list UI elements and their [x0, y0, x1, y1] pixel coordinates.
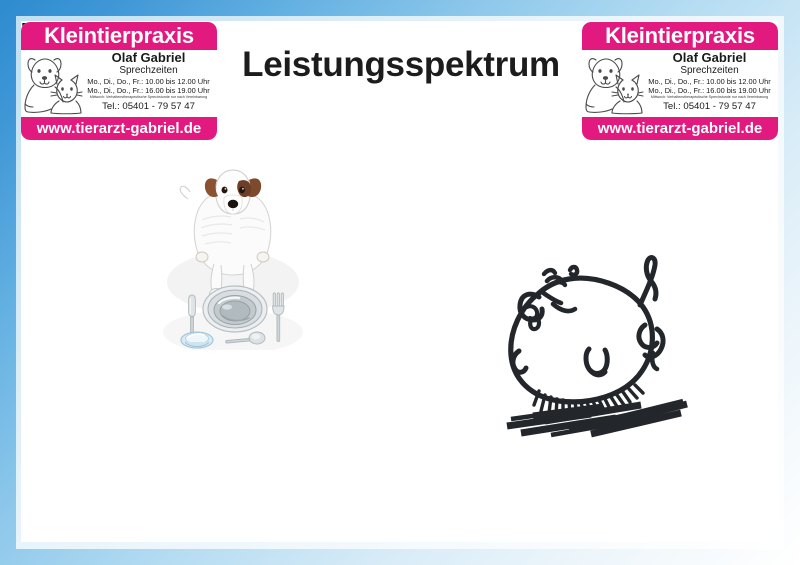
logo-body: Olaf Gabriel Sprechzeiten Mo., Di., Do.,… [21, 50, 217, 117]
dog-and-cat-icon [21, 50, 83, 114]
page-title: Leistungsspektrum [226, 45, 576, 85]
practice-logo-right[interactable]: Kleintierpraxis [582, 22, 778, 140]
practice-logo-left[interactable]: Kleintierpraxis [21, 22, 217, 140]
phone-number: Tel.: 05401 - 79 57 47 [83, 101, 214, 113]
website-link[interactable]: www.tierarzt-gabriel.de [21, 117, 217, 140]
logo-banner-title: Kleintierpraxis [21, 22, 217, 50]
hours-note: Mittwoch: Verhaltenstherapeutische Sprec… [644, 95, 775, 100]
jack-russell-terrier-photo [161, 164, 306, 350]
vet-name: Olaf Gabriel [83, 51, 214, 65]
hours-line-1: Mo., Di., Do., Fr.: 10.00 bis 12.00 Uhr [644, 77, 775, 86]
overweight-dog-sketch [441, 219, 701, 439]
dog-and-cat-icon [582, 50, 644, 114]
website-link[interactable]: www.tierarzt-gabriel.de [582, 117, 778, 140]
slide-frame: Kleintierpraxis [0, 0, 800, 565]
logo-banner-title: Kleintierpraxis [582, 22, 778, 50]
slide-canvas: Kleintierpraxis [21, 21, 778, 542]
logo-body: Olaf Gabriel Sprechzeiten Mo., Di., Do.,… [582, 50, 778, 117]
hours-line-2: Mo., Di., Do., Fr.: 16.00 bis 19.00 Uhr [644, 86, 775, 95]
hours-line-1: Mo., Di., Do., Fr.: 10.00 bis 12.00 Uhr [83, 77, 214, 86]
logo-text-block: Olaf Gabriel Sprechzeiten Mo., Di., Do.,… [83, 50, 217, 113]
hours-line-2: Mo., Di., Do., Fr.: 16.00 bis 19.00 Uhr [83, 86, 214, 95]
hours-title: Sprechzeiten [644, 65, 775, 77]
hours-title: Sprechzeiten [83, 65, 214, 77]
hours-note: Mittwoch: Verhaltenstherapeutische Sprec… [83, 95, 214, 100]
vet-name: Olaf Gabriel [644, 51, 775, 65]
logo-text-block: Olaf Gabriel Sprechzeiten Mo., Di., Do.,… [644, 50, 778, 113]
phone-number: Tel.: 05401 - 79 57 47 [644, 101, 775, 113]
